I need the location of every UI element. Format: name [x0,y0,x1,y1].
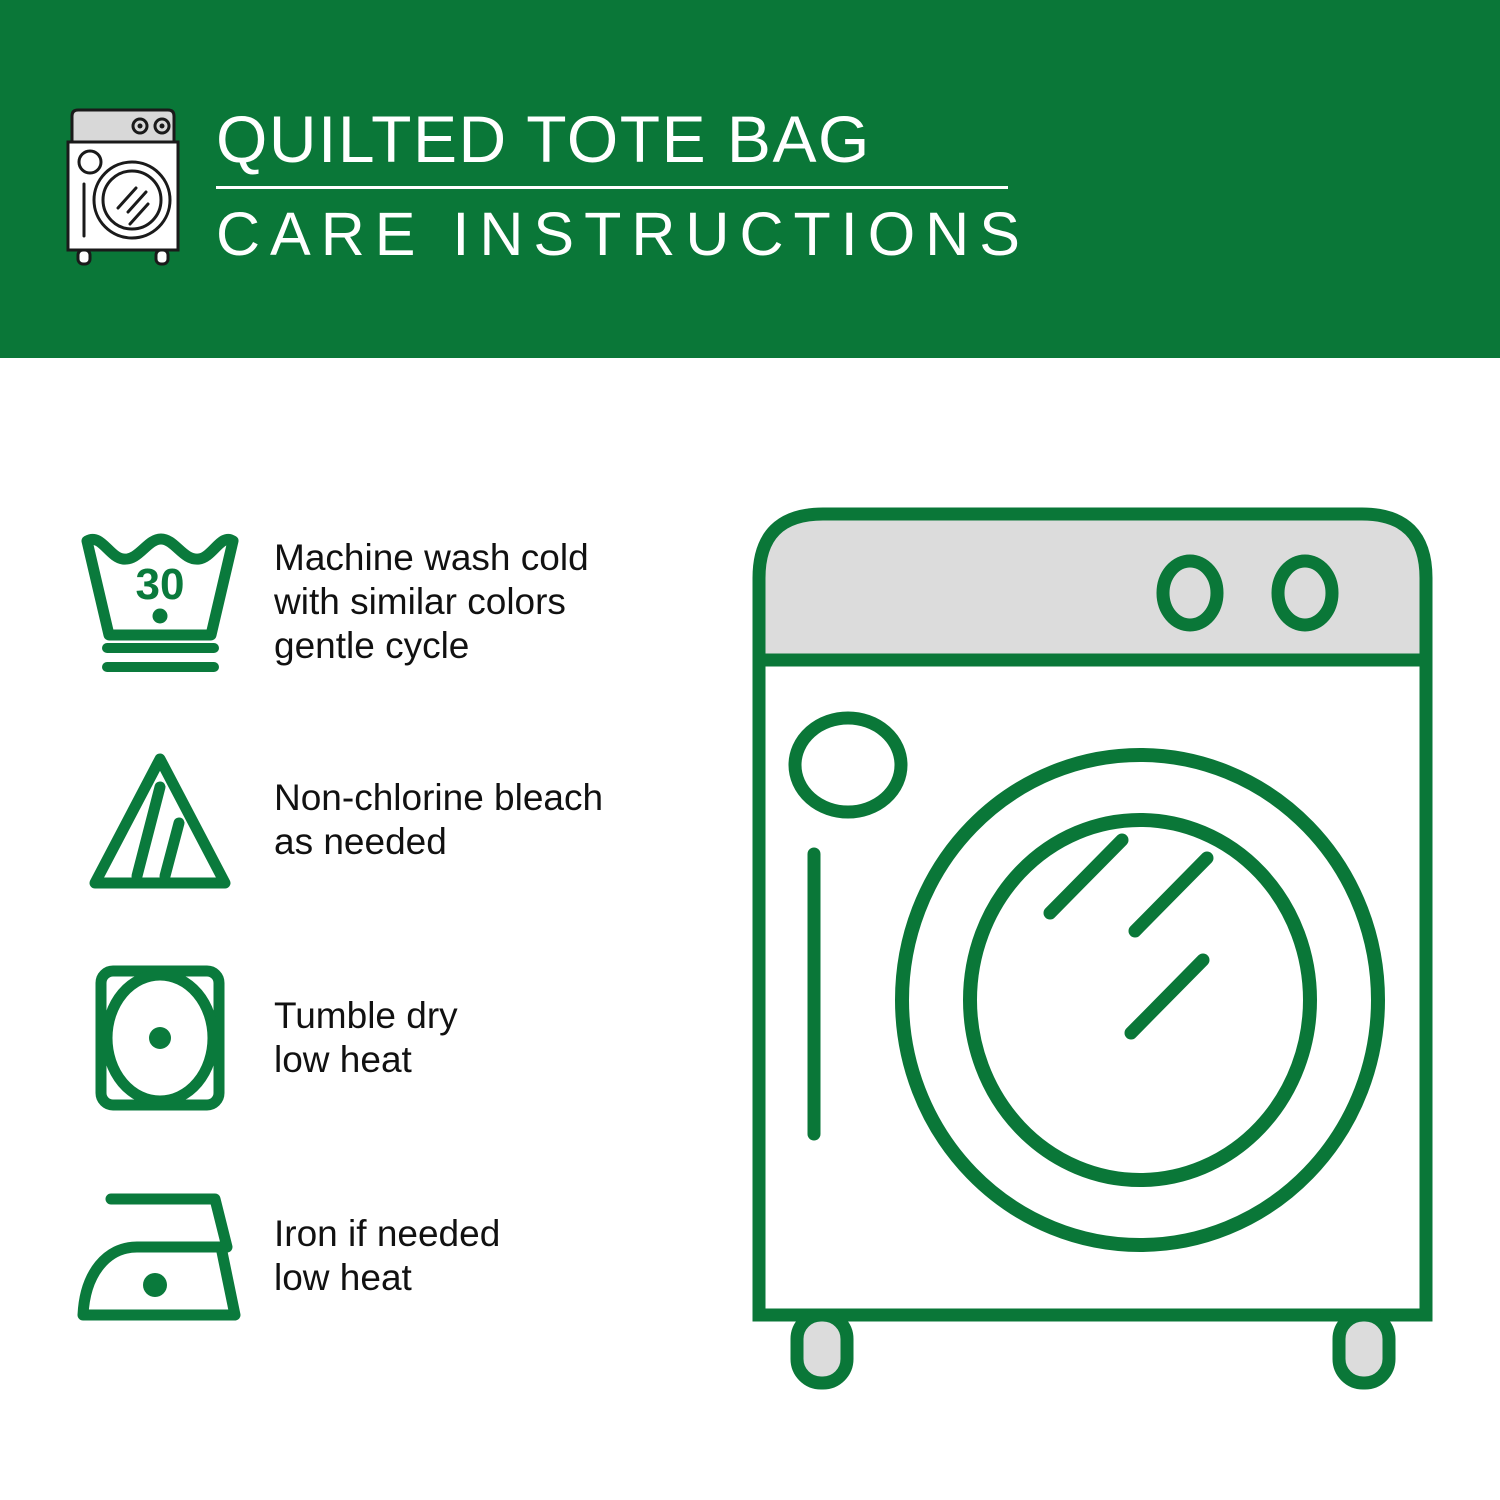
front-load-washing-machine-illustration [735,488,1450,1428]
header-title-block: QUILTED TOTE BAG CARE INSTRUCTIONS [216,100,1030,267]
title-divider [216,186,1008,189]
care-row-tumble-dry: Tumble dry low heat [70,954,710,1122]
iron-low-heat-icon [70,1176,250,1336]
header-banner: QUILTED TOTE BAG CARE INSTRUCTIONS [0,0,1500,358]
non-chlorine-bleach-triangle-icon [70,740,250,900]
care-label-bleach: Non-chlorine bleach as needed [274,776,603,864]
page-subtitle: CARE INSTRUCTIONS [216,201,1030,267]
tumble-dry-low-icon [70,958,250,1118]
header-content: QUILTED TOTE BAG CARE INSTRUCTIONS [60,100,1030,268]
care-label-tumble-dry: Tumble dry low heat [274,994,458,1082]
leg-right [1339,1315,1389,1383]
care-label-iron: Iron if needed low heat [274,1212,500,1300]
main-content: 30 Machine wash cold with similar colors… [0,358,1500,1500]
washing-machine-icon [60,108,188,268]
leg-left [797,1315,847,1383]
page-title: QUILTED TOTE BAG [216,102,1030,176]
care-label-machine-wash: Machine wash cold with similar colors ge… [274,536,589,668]
care-instructions-page: QUILTED TOTE BAG CARE INSTRUCTIONS [0,0,1500,1500]
care-row-machine-wash: 30 Machine wash cold with similar colors… [70,518,710,686]
care-instruction-list: 30 Machine wash cold with similar colors… [70,518,710,1340]
wash-temp-value: 30 [136,560,185,609]
care-row-bleach: Non-chlorine bleach as needed [70,736,710,904]
machine-wash-30-icon: 30 [70,522,250,682]
care-row-iron: Iron if needed low heat [70,1172,710,1340]
